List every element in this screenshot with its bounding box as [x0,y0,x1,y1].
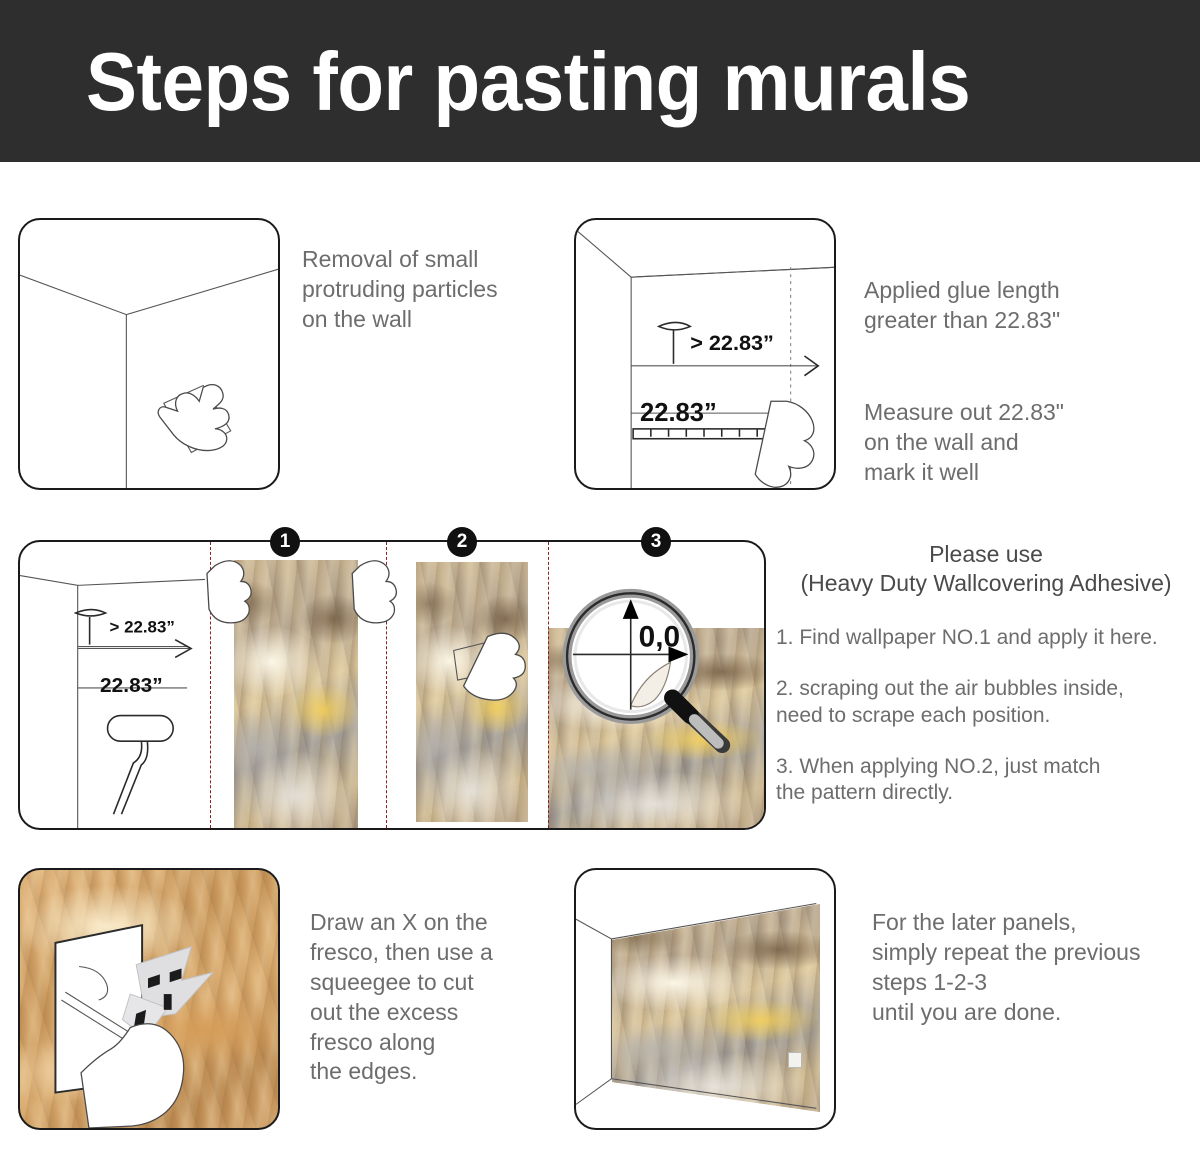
strip-overlay-hands-magnifier: 0,0 [20,542,764,828]
steps-instruction-block: Please use (Heavy Duty Wallcovering Adhe… [776,540,1196,831]
wall-glue-measure-illustration: > 22.83” 22.83” [576,220,834,488]
badge-step-1: 1 [270,527,300,557]
room-perspective-lines [576,870,834,1128]
header-banner: Steps for pasting murals [0,0,1200,162]
instruction-1: 1. Find wallpaper NO.1 and apply it here… [776,625,1196,652]
adhesive-heading: Please use (Heavy Duty Wallcovering Adhe… [776,540,1196,599]
wall-corner-scraper-illustration [20,220,278,488]
cut-x-outlet-illustration [20,870,278,1128]
caption-final: For the later panels, simply repeat the … [872,908,1192,1028]
caption-measure-wall: Measure out 22.83" on the wall and mark … [864,398,1164,488]
panel-apply-strips: > 22.83” 22.83” [18,540,766,830]
label-measure-inline: 22.83” [640,399,717,427]
label-origin-point: 0,0 [639,621,680,654]
panel-wall-prep [18,218,280,490]
caption-wall-prep: Removal of small protruding particles on… [302,245,572,335]
badge-step-3: 3 [641,527,671,557]
infographic-page: Steps for pasting murals Removal of smal… [0,0,1200,1152]
caption-cut-x: Draw an X on the fresco, then use a sque… [310,908,580,1087]
panel-final-wall [574,868,836,1130]
label-glue-length-inline: > 22.83” [690,330,774,355]
panel-glue-measure: > 22.83” 22.83” [574,218,836,490]
instruction-3: 3. When applying NO.2, just match the pa… [776,754,1196,808]
instruction-2: 2. scraping out the air bubbles inside, … [776,676,1196,730]
page-title: Steps for pasting murals [86,40,970,123]
panel-cut-x [18,868,280,1130]
light-switch-icon [788,1052,802,1068]
badge-step-2: 2 [447,527,477,557]
caption-glue-length: Applied glue length greater than 22.83" [864,276,1164,336]
